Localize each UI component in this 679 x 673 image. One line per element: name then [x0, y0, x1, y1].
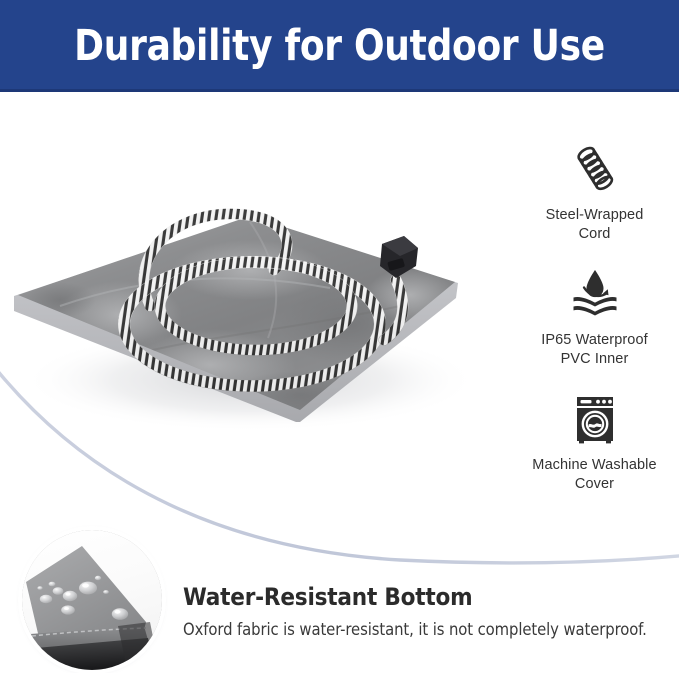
page-title: Durability for Outdoor Use — [24, 21, 655, 71]
feature-label: Machine Washable Cover — [510, 456, 679, 494]
infographic-page: Durability for Outdoor Use — [0, 0, 679, 673]
feature-list: Steel-Wrapped Cord IP65 Waterproof P — [510, 140, 679, 515]
header-banner: Durability for Outdoor Use — [0, 0, 679, 92]
feature-label: Steel-Wrapped Cord — [510, 206, 679, 244]
callout-heading: Water-Resistant Bottom — [183, 583, 663, 611]
feature-label: IP65 Waterproof PVC Inner — [510, 331, 679, 369]
feature-machine-washable: Machine Washable Cover — [510, 390, 679, 494]
heating-pad-illustration — [0, 110, 540, 440]
feature-steel-wrapped-cord: Steel-Wrapped Cord — [510, 140, 679, 244]
product-photo — [0, 110, 540, 440]
washing-machine-icon — [567, 390, 623, 446]
coiled-spring-cord-icon — [567, 140, 623, 196]
oxford-fabric-droplets-illustration — [22, 530, 162, 670]
callout-subtitle: Oxford fabric is water-resistant, it is … — [183, 620, 663, 639]
water-resistant-bottom-text: Water-Resistant Bottom Oxford fabric is … — [183, 583, 663, 639]
water-resistant-bottom-photo — [22, 530, 162, 670]
water-droplet-repellent-layers-icon — [567, 265, 623, 321]
feature-ip65-waterproof: IP65 Waterproof PVC Inner — [510, 265, 679, 369]
